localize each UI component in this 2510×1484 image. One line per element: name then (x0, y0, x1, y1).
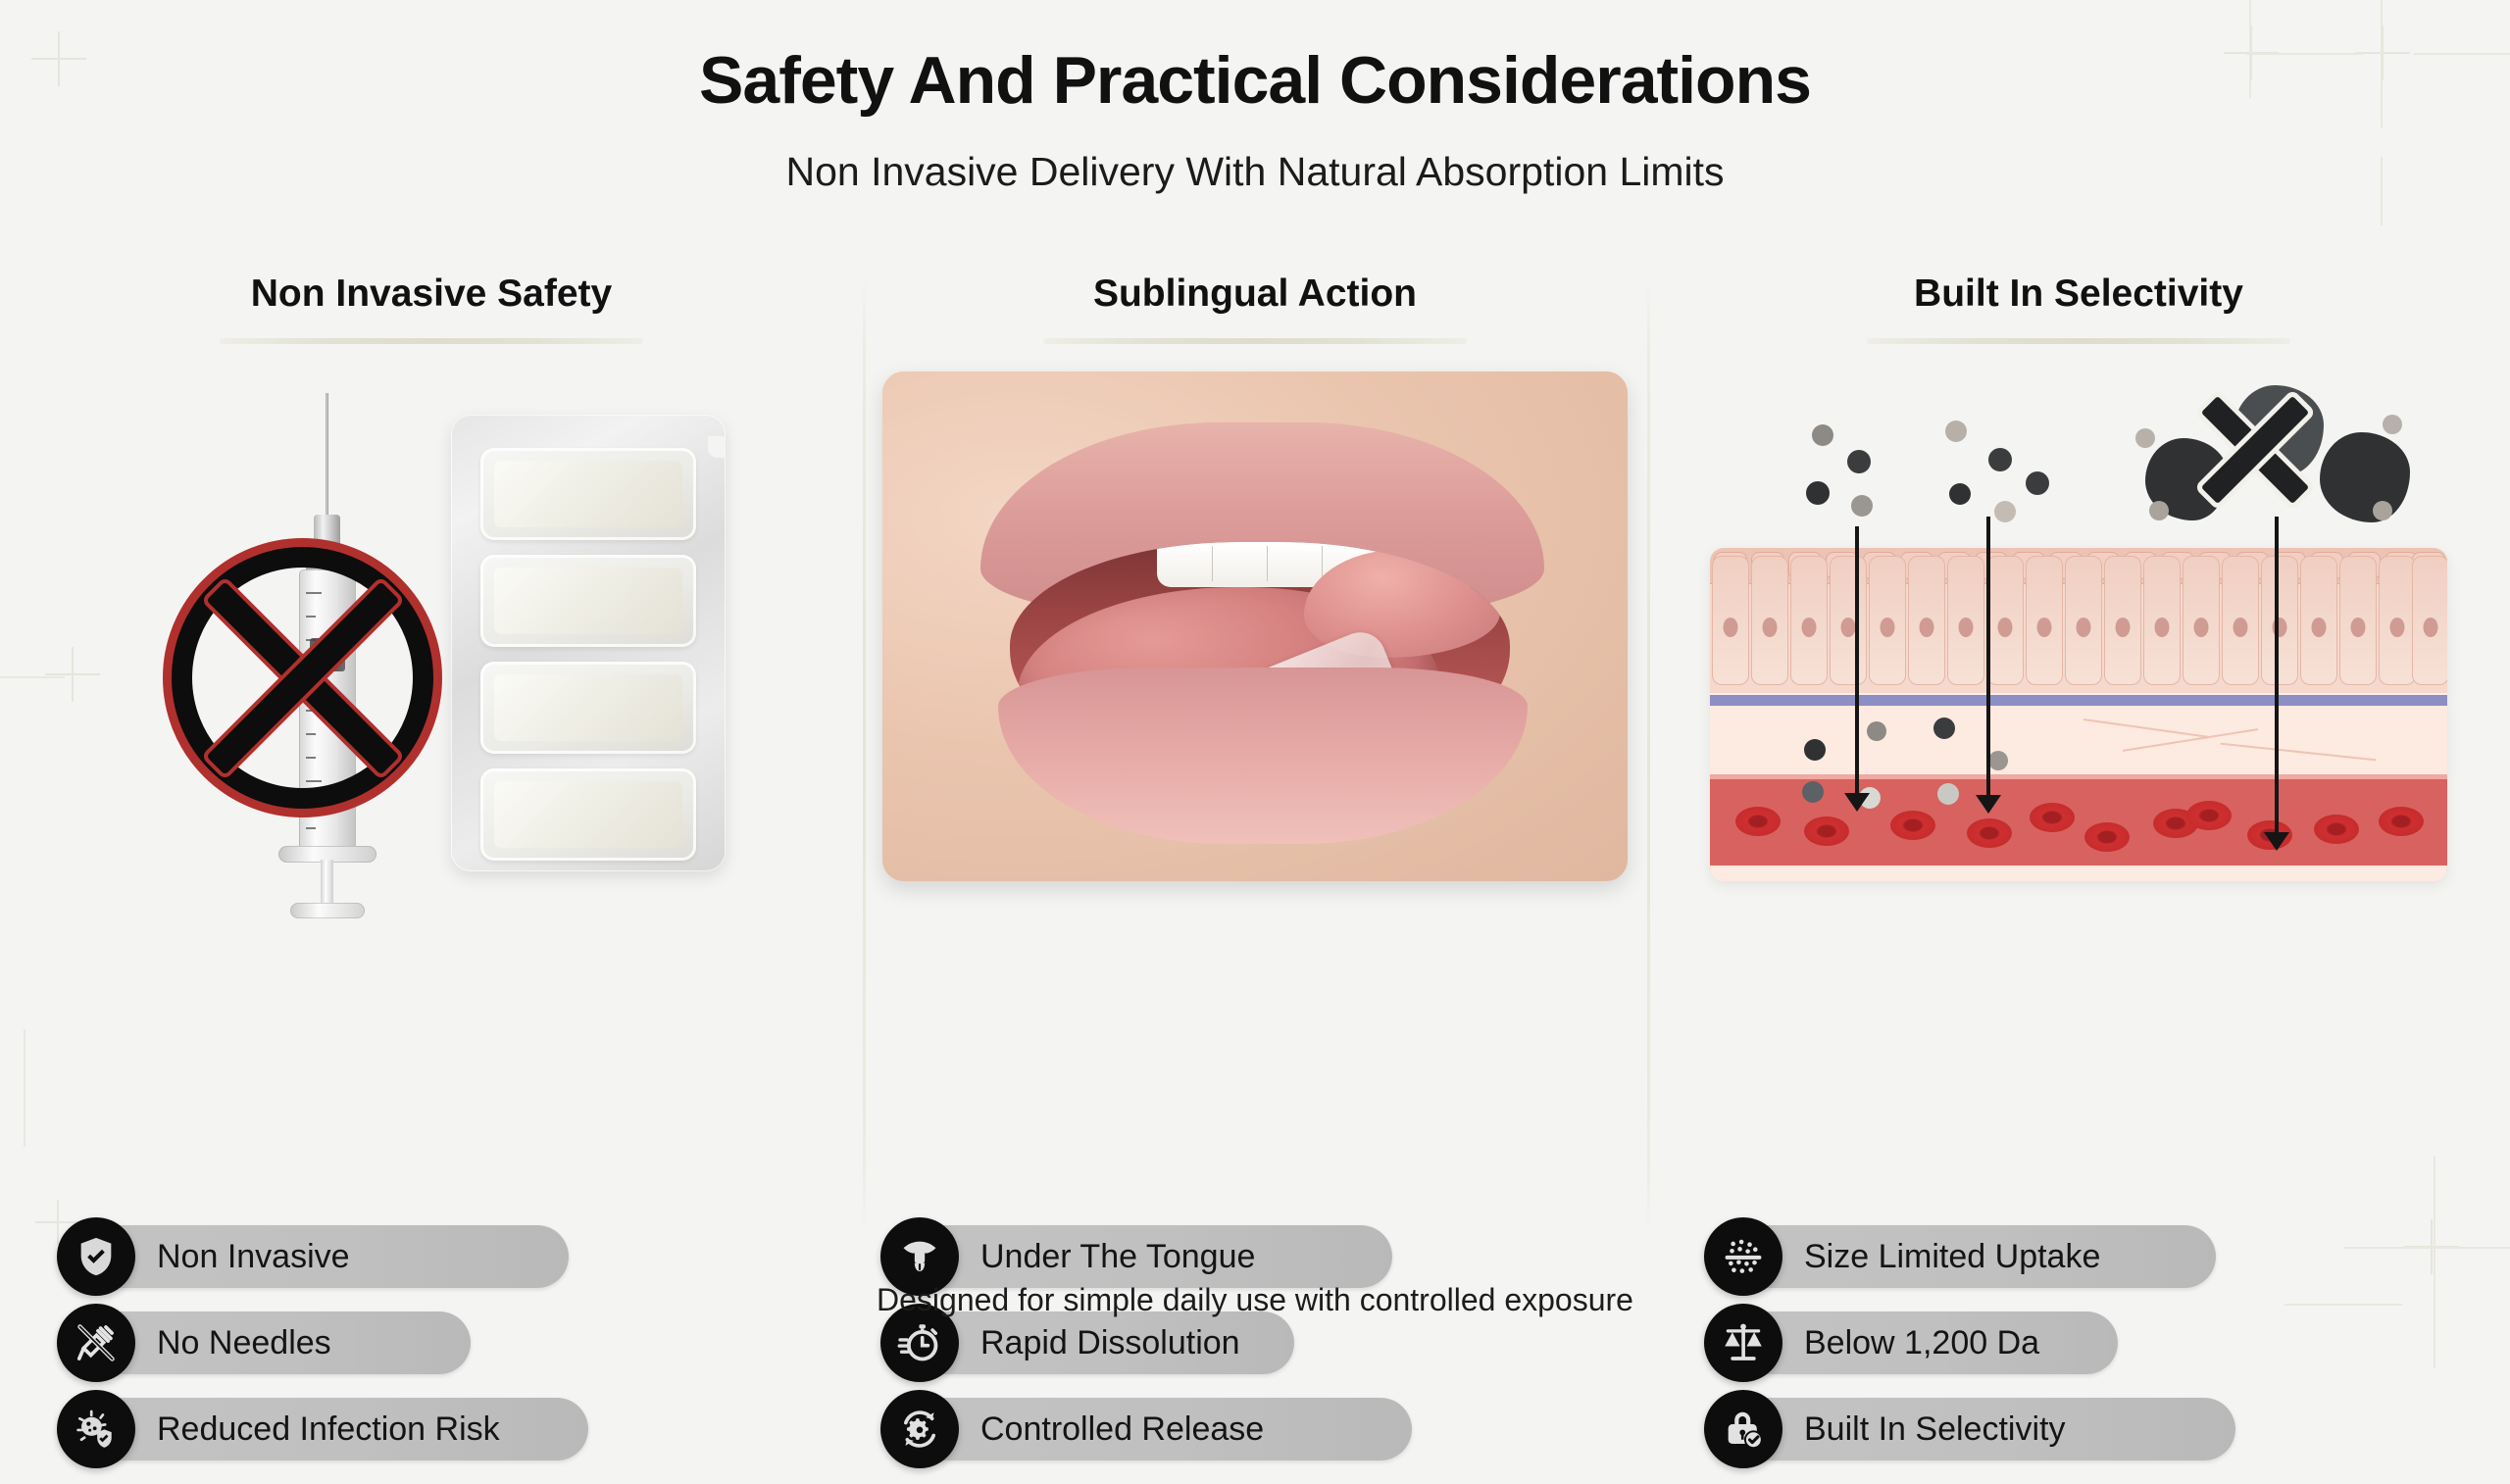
epithelium-layer (1710, 548, 2447, 693)
list-item[interactable]: Reduced Infection Risk (59, 1398, 588, 1460)
list-item-label: Below 1,200 Da (1804, 1311, 2039, 1374)
footer-note: Designed for simple daily use with contr… (0, 1284, 2510, 1315)
lower-lip (998, 668, 1528, 844)
tissue-layers (1710, 548, 2447, 881)
syringe-icon (224, 393, 429, 893)
red-blood-cell (2084, 822, 2130, 852)
small-molecule (1945, 420, 1967, 442)
blood-vessel (1710, 774, 2447, 870)
prohibition-icon (163, 538, 442, 817)
blocked-x-icon (2190, 385, 2320, 515)
list-item[interactable]: Rapid Dissolution (882, 1311, 1294, 1374)
visual-mouth-photo (882, 371, 1628, 881)
syringe-rod (321, 860, 333, 907)
visual-syringe-blister (59, 371, 804, 881)
red-blood-cell (2314, 815, 2359, 844)
list-item-label: No Needles (157, 1311, 331, 1374)
syringe-thumb-rest (290, 903, 365, 918)
red-blood-cell (1967, 818, 2012, 848)
small-molecule (1804, 739, 1826, 761)
balance-scale-icon (1704, 1304, 1782, 1382)
molecule-field (1710, 371, 2447, 566)
small-molecule (1988, 751, 2008, 770)
column-heading: Built In Selectivity (1706, 274, 2451, 313)
feature-list: Under The Tongue Rapid Dissoluti (882, 1225, 1628, 1484)
heading-underline (1043, 338, 1467, 344)
submucosa-layer (1710, 866, 2447, 881)
list-item-label: Size Limited Uptake (1804, 1225, 2100, 1288)
small-molecule (1847, 450, 1871, 473)
no-needle-icon (57, 1304, 135, 1382)
small-molecule (1933, 717, 1955, 739)
small-molecule (1806, 481, 1830, 505)
mouth-photo (882, 371, 1628, 881)
list-item-label: Rapid Dissolution (980, 1311, 1240, 1374)
permeation-arrow (1855, 526, 1859, 795)
molecule-atom (2373, 501, 2392, 520)
small-molecule (1867, 721, 1886, 741)
column-divider (1647, 276, 1650, 1235)
small-molecule (1812, 424, 1833, 446)
blister-cell (480, 768, 696, 861)
column-divider (863, 276, 866, 1235)
list-item-label: Under The Tongue (980, 1225, 1255, 1288)
small-molecule (1802, 781, 1824, 803)
bacteria-shield-icon (57, 1390, 135, 1468)
list-item[interactable]: Size Limited Uptake (1706, 1225, 2216, 1288)
small-molecule (1949, 483, 1971, 505)
small-molecule (1988, 448, 2012, 471)
column-sublingual-action: Sublingual Action (882, 274, 1628, 881)
red-blood-cell (2379, 807, 2424, 836)
syringe-needle (326, 393, 328, 519)
molecule-atom (2149, 501, 2169, 520)
small-molecule (1994, 501, 2016, 522)
column-heading: Non Invasive Safety (59, 274, 804, 313)
list-item-label: Controlled Release (980, 1398, 1264, 1460)
column-built-in-selectivity: Built In Selectivity (1706, 274, 2451, 881)
list-item[interactable]: Under The Tongue (882, 1225, 1392, 1288)
list-item[interactable]: Controlled Release (882, 1398, 1412, 1460)
page-subtitle: Non Invasive Delivery With Natural Absor… (0, 152, 2510, 192)
visual-mucosa-diagram (1706, 371, 2451, 881)
molecule-atom (2135, 428, 2155, 448)
blister-cell (480, 555, 696, 647)
list-item[interactable]: Built In Selectivity (1706, 1398, 2235, 1460)
feature-list: Non Invasive No Needles (59, 1225, 804, 1484)
small-molecule (1851, 495, 1873, 517)
large-molecule-blocked (2132, 381, 2426, 548)
blister-cell (480, 448, 696, 540)
mouth-group (969, 422, 1557, 834)
list-item-label: Built In Selectivity (1804, 1398, 2065, 1460)
connective-tissue (1710, 706, 2447, 780)
list-item[interactable]: Below 1,200 Da (1706, 1311, 2118, 1374)
molecule-blob (2320, 432, 2410, 522)
list-item-label: Reduced Infection Risk (157, 1398, 500, 1460)
blister-cell (480, 662, 696, 754)
basement-membrane (1710, 695, 2447, 706)
gear-cycle-icon (880, 1390, 959, 1468)
feature-list: Size Limited Uptake Below 1,200 Da (1706, 1225, 2451, 1484)
red-blood-cell (1735, 807, 1781, 836)
red-blood-cell (1804, 816, 1849, 846)
column-non-invasive-safety: Non Invasive Safety (59, 274, 804, 881)
blister-pack (451, 415, 726, 871)
heading-underline (1867, 338, 2290, 344)
permeation-arrow (2275, 517, 2279, 834)
heading-underline (220, 338, 643, 344)
list-item[interactable]: No Needles (59, 1311, 471, 1374)
page-title: Safety And Practical Considerations (0, 47, 2510, 114)
red-blood-cell (2030, 803, 2075, 832)
permeation-arrow (1986, 517, 1990, 797)
list-item[interactable]: Non Invasive (59, 1225, 569, 1288)
small-molecule (2026, 471, 2049, 495)
lock-check-icon (1704, 1390, 1782, 1468)
molecule-atom (2383, 415, 2402, 434)
red-blood-cell (1890, 811, 1935, 840)
mucosa-cross-section (1710, 371, 2447, 881)
list-item-label: Non Invasive (157, 1225, 350, 1288)
column-heading: Sublingual Action (882, 274, 1628, 313)
red-blood-cell (2186, 801, 2232, 830)
small-molecule (1937, 783, 1959, 805)
